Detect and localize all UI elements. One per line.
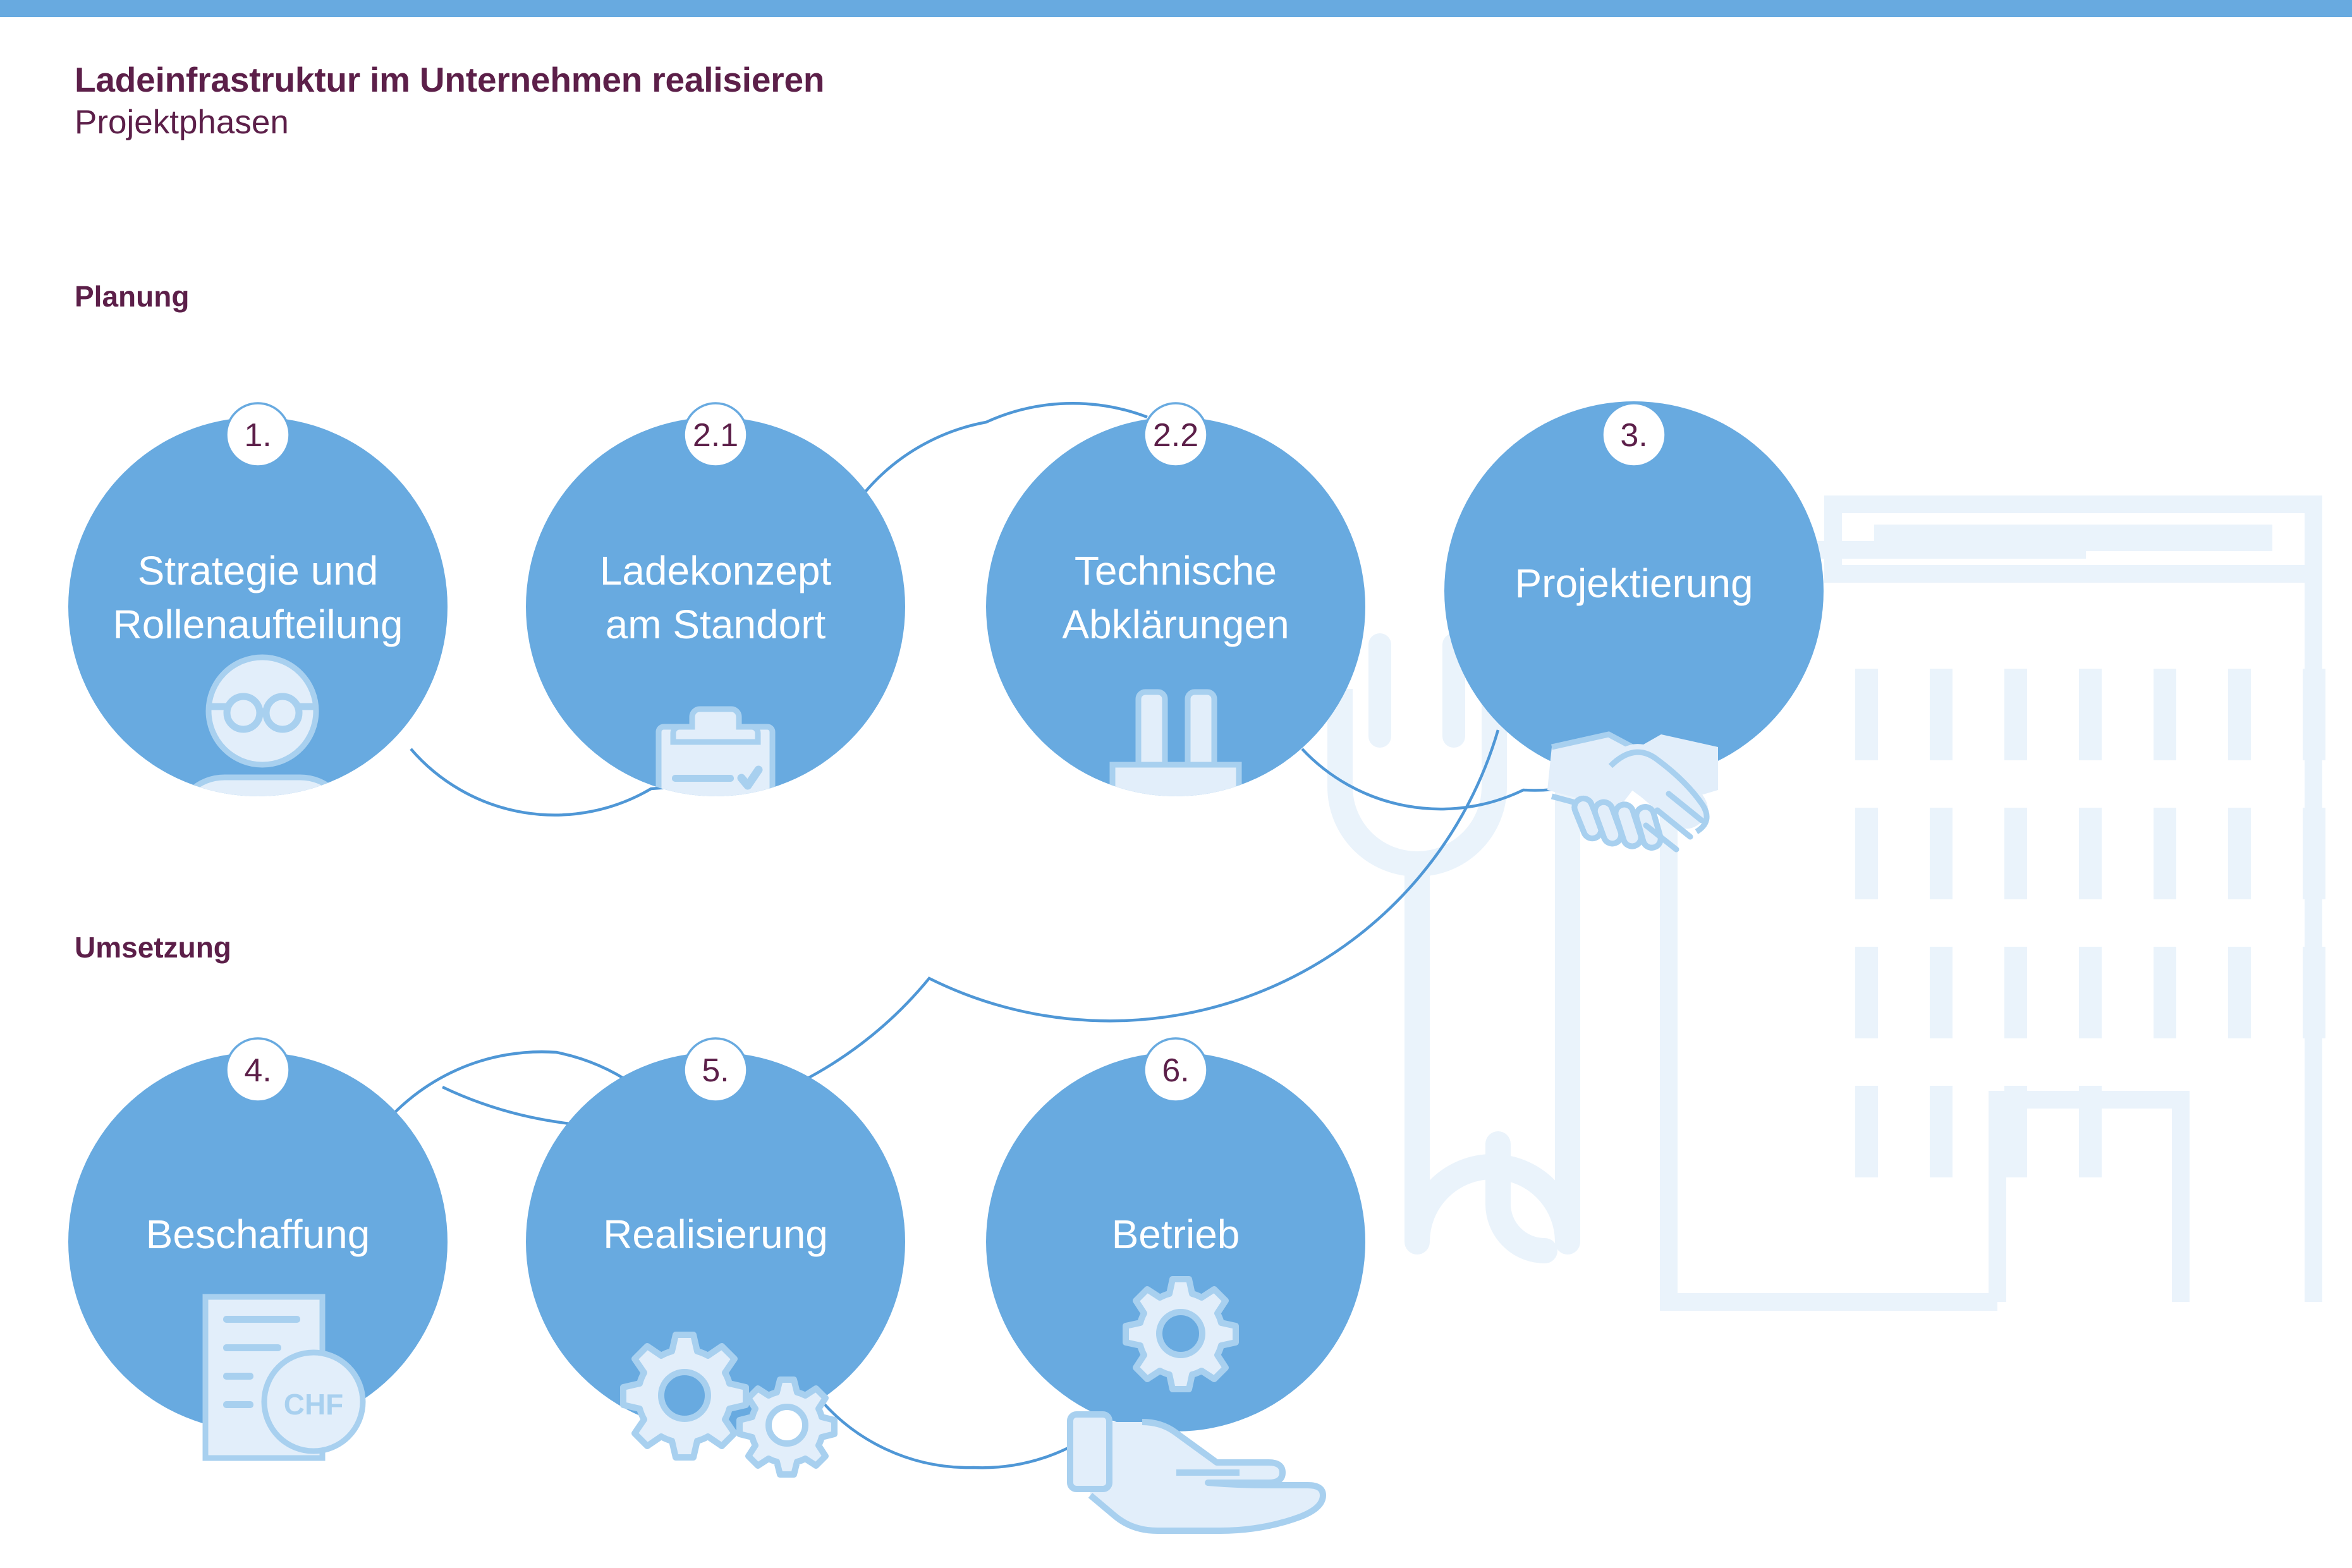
- phase-node-4[interactable]: CHF Beschaffung 4.: [68, 1038, 448, 1458]
- phase-node-5[interactable]: Realisierung 5.: [526, 1038, 905, 1474]
- phase-label-2-1-line1: Ladekonzept: [600, 548, 832, 593]
- phase-number-5: 5.: [702, 1052, 729, 1089]
- phase-number-1: 1.: [244, 417, 271, 454]
- phase-node-1[interactable]: Strategie und Rollenaufteilung 1.: [68, 403, 448, 967]
- phase-label-1-line1: Strategie und: [138, 548, 379, 593]
- phase-node-2-2[interactable]: Technische Abklärungen 2.2: [986, 403, 1365, 937]
- infographic-canvas: Ladeinfrastruktur im Unternehmen realisi…: [0, 0, 2352, 1568]
- phase-number-2-1: 2.1: [693, 417, 738, 454]
- phase-diagram: Strategie und Rollenaufteilung 1.: [0, 0, 2352, 1568]
- phase-node-2-1[interactable]: Ladekonzept am Standort 2.1: [526, 403, 905, 935]
- phase-number-4: 4.: [244, 1052, 271, 1089]
- phase-label-4: Beschaffung: [146, 1212, 370, 1257]
- phase-label-5: Realisierung: [603, 1212, 828, 1257]
- phase-number-2-2: 2.2: [1153, 417, 1198, 454]
- phase-number-3: 3.: [1620, 417, 1647, 454]
- phase-label-2-2-line2: Abklärungen: [1062, 602, 1289, 647]
- phase-label-2-1-line2: am Standort: [606, 602, 826, 647]
- phase-label-2-2-line1: Technische: [1075, 548, 1277, 593]
- phase-number-6: 6.: [1162, 1052, 1189, 1089]
- building-windows: [1855, 669, 2325, 1177]
- phase-label-6: Betrieb: [1112, 1212, 1240, 1257]
- currency-badge-text: CHF: [284, 1388, 344, 1421]
- checklist-clipboard-icon: [659, 709, 772, 935]
- phase-label-3: Projektierung: [1514, 561, 1753, 606]
- phase-label-1-line2: Rollenaufteilung: [113, 602, 403, 647]
